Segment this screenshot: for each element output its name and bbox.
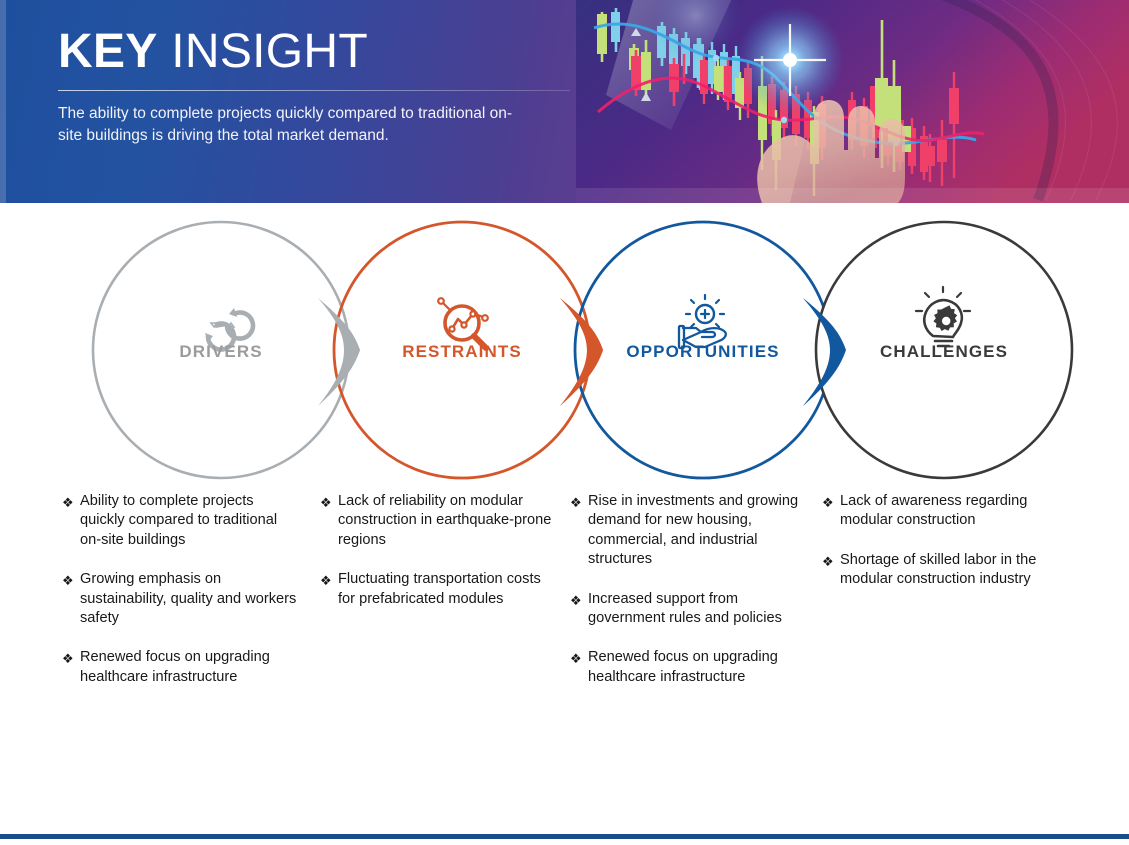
list-item: ❖ Growing emphasis on sustainability, qu…	[62, 570, 302, 628]
circle-label-drivers: DRIVERS	[179, 342, 262, 362]
bullet-marker-icon: ❖	[62, 648, 80, 687]
circle-label-restraints: RESTRAINTS	[402, 342, 522, 362]
title-divider	[58, 90, 570, 91]
hand-holding-sun-plus-icon	[679, 295, 726, 348]
bullet-text: Renewed focus on upgrading healthcare in…	[588, 648, 800, 687]
list-item: ❖ Ability to complete projects quickly c…	[62, 492, 302, 550]
stage-diagram: DRIVERS RESTRAINTS OPPORTUNITIES CHALLEN…	[0, 203, 1129, 503]
bullet-column-drivers: ❖ Ability to complete projects quickly c…	[62, 492, 302, 707]
bullet-text: Ability to complete projects quickly com…	[80, 492, 302, 550]
list-item: ❖ Increased support from government rule…	[570, 590, 800, 629]
bullet-text: Shortage of skilled labor in the modular…	[840, 551, 1054, 590]
bullet-marker-icon: ❖	[320, 570, 338, 609]
header-left-accent	[0, 0, 6, 203]
bullet-marker-icon: ❖	[320, 492, 338, 550]
bullet-marker-icon: ❖	[822, 492, 840, 531]
circle-label-opportunities: OPPORTUNITIES	[626, 342, 779, 362]
magnifier-analytics-icon	[438, 298, 488, 348]
bullet-marker-icon: ❖	[570, 492, 588, 570]
header-subtitle: The ability to complete projects quickly…	[58, 103, 518, 147]
bullet-column-restraints: ❖ Lack of reliability on modular constru…	[320, 492, 554, 629]
bullet-marker-icon: ❖	[570, 590, 588, 629]
list-item: ❖ Fluctuating transportation costs for p…	[320, 570, 554, 609]
header-text-block: KEY INSIGHT The ability to complete proj…	[58, 28, 578, 147]
bullet-text: Renewed focus on upgrading healthcare in…	[80, 648, 302, 687]
bullet-text: Lack of awareness regarding modular cons…	[840, 492, 1054, 531]
bullet-text: Lack of reliability on modular construct…	[338, 492, 554, 550]
bullet-marker-icon: ❖	[822, 551, 840, 590]
bullet-marker-icon: ❖	[62, 570, 80, 628]
list-item: ❖ Shortage of skilled labor in the modul…	[822, 551, 1054, 590]
bullet-text: Growing emphasis on sustainability, qual…	[80, 570, 302, 628]
list-item: ❖ Rise in investments and growing demand…	[570, 492, 800, 570]
list-item: ❖ Lack of awareness regarding modular co…	[822, 492, 1054, 531]
bullet-text: Increased support from government rules …	[588, 590, 800, 629]
bullet-column-opportunities: ❖ Rise in investments and growing demand…	[570, 492, 800, 707]
header-artwork	[576, 0, 1129, 203]
page-title: KEY INSIGHT	[58, 28, 578, 76]
bullet-text: Fluctuating transportation costs for pre…	[338, 570, 554, 609]
bullet-marker-icon: ❖	[570, 648, 588, 687]
list-item: ❖ Lack of reliability on modular constru…	[320, 492, 554, 550]
header-banner: KEY INSIGHT The ability to complete proj…	[0, 0, 1129, 203]
list-item: ❖ Renewed focus on upgrading healthcare …	[570, 648, 800, 687]
bullet-text: Rise in investments and growing demand f…	[588, 492, 800, 570]
bullet-column-challenges: ❖ Lack of awareness regarding modular co…	[822, 492, 1054, 610]
bullet-marker-icon: ❖	[62, 492, 80, 550]
circle-label-challenges: CHALLENGES	[880, 342, 1008, 362]
page-title-light: INSIGHT	[171, 25, 368, 78]
list-item: ❖ Renewed focus on upgrading healthcare …	[62, 648, 302, 687]
infographic-page: KEY INSIGHT The ability to complete proj…	[0, 0, 1129, 845]
bullet-columns: ❖ Ability to complete projects quickly c…	[0, 492, 1129, 792]
footer-accent-bar	[0, 834, 1129, 839]
page-title-bold: KEY	[58, 25, 158, 78]
